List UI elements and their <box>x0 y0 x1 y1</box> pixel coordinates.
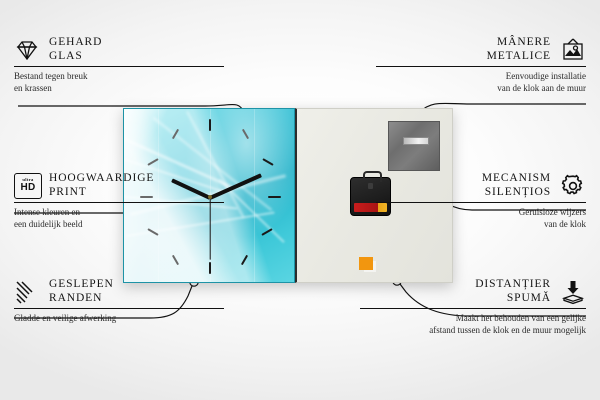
feature-title-line1: MECANISM <box>482 172 551 186</box>
feature-desc-line2: en krassen <box>14 83 224 95</box>
feature-header: DISTANȚIER SPUMĂ <box>360 278 586 305</box>
ultra-hd-icon: ultra HD <box>14 173 40 199</box>
feature-desc-line2: afstand tussen de klok en de muur mogeli… <box>360 325 586 337</box>
feature-title: MECANISM SILENȚIOS <box>482 172 551 199</box>
feature-description: Intense kleuren en een duidelijk beeld <box>14 207 224 230</box>
movement-shaft <box>368 183 373 189</box>
feature-desc-line1: Geruisloze wijzers <box>376 207 586 219</box>
clock-tick-5 <box>241 255 248 266</box>
feature-header: GESLEPEN RANDEN <box>14 278 224 305</box>
ultra-hd-large-text: HD <box>20 183 35 193</box>
feature-title-line1: MÂNERE <box>487 36 551 50</box>
feature-header: ultra HD HOOGWAARDIGE PRINT <box>14 172 224 199</box>
feature-rule <box>14 66 224 67</box>
feature-header: MÂNERE METALICE <box>376 36 586 63</box>
product-infographic: GEHARD GLAS Bestand tegen breuk en krass… <box>0 0 600 400</box>
feature-rule <box>14 202 224 203</box>
feature-title: DISTANȚIER SPUMĂ <box>475 278 551 305</box>
feature-description: Maakt het behouden van een gelijke afsta… <box>360 313 586 336</box>
picture-frame-icon <box>560 37 586 63</box>
diamond-icon <box>14 37 40 63</box>
feature-description: Geruisloze wijzers van de klok <box>376 207 586 230</box>
feature-rule <box>376 66 586 67</box>
clock-tick-12 <box>209 119 211 131</box>
clock-tick-1 <box>242 129 249 140</box>
spacer-press-icon <box>560 279 586 305</box>
feature-desc-line2: van de klok <box>376 219 586 231</box>
feature-desc-line1: Eenvoudige installatie <box>376 71 586 83</box>
feature-title-line2: RANDEN <box>49 292 114 306</box>
feature-mecanism-silentios: MECANISM SILENȚIOS Geruisloze wijzers va… <box>376 172 586 230</box>
metal-hanger-plate <box>388 121 440 171</box>
feature-description: Bestand tegen breuk en krassen <box>14 71 224 94</box>
feature-desc-line1: Gladde en veilige afwerking <box>14 313 224 325</box>
feature-desc-line1: Bestand tegen breuk <box>14 71 224 83</box>
feature-header: MECANISM SILENȚIOS <box>376 172 586 199</box>
feature-desc-line2: een duidelijk beeld <box>14 219 224 231</box>
feature-title-line1: GESLEPEN <box>49 278 114 292</box>
feature-title-line2: METALICE <box>487 50 551 64</box>
feature-title: GEHARD GLAS <box>49 36 102 63</box>
feature-title-line1: HOOGWAARDIGE <box>49 172 154 186</box>
beveled-edges-icon <box>14 279 40 305</box>
clock-tick-7 <box>172 255 179 266</box>
feature-gehard-glas: GEHARD GLAS Bestand tegen breuk en krass… <box>14 36 224 94</box>
feature-title-line1: DISTANȚIER <box>475 278 551 292</box>
feature-title-line2: PRINT <box>49 186 154 200</box>
clock-tick-4 <box>261 228 272 236</box>
clock-tick-10 <box>147 158 158 166</box>
feature-manere-metalice: MÂNERE METALICE Eenvoudige installatie v… <box>376 36 586 94</box>
feature-hoogwaardige-print: ultra HD HOOGWAARDIGE PRINT Intense kleu… <box>14 172 224 230</box>
clock-tick-3 <box>268 196 281 198</box>
feature-desc-line1: Intense kleuren en <box>14 207 224 219</box>
feature-header: GEHARD GLAS <box>14 36 224 63</box>
feature-title-line2: SILENȚIOS <box>482 186 551 200</box>
feature-title: HOOGWAARDIGE PRINT <box>49 172 154 199</box>
feature-title-line1: GEHARD <box>49 36 102 50</box>
gear-icon <box>560 173 586 199</box>
feature-rule <box>376 202 586 203</box>
feature-desc-line2: van de klok aan de muur <box>376 83 586 95</box>
hanger-slot <box>403 137 429 145</box>
clock-tick-2 <box>262 158 273 166</box>
feature-desc-line1: Maakt het behouden van een gelijke <box>360 313 586 325</box>
feature-geslepen-randen: GESLEPEN RANDEN Gladde en veilige afwerk… <box>14 278 224 325</box>
feature-distantier-spuma: DISTANȚIER SPUMĂ Maakt het behouden van … <box>360 278 586 336</box>
panel-seam <box>254 109 255 282</box>
feature-title: GESLEPEN RANDEN <box>49 278 114 305</box>
feature-title-line2: GLAS <box>49 50 102 64</box>
clock-tick-6 <box>209 262 211 274</box>
feature-rule <box>360 308 586 309</box>
foam-spacer <box>359 257 373 270</box>
feature-rule <box>14 308 224 309</box>
feature-description: Gladde en veilige afwerking <box>14 313 224 325</box>
feature-description: Eenvoudige installatie van de klok aan d… <box>376 71 586 94</box>
feature-title-line2: SPUMĂ <box>475 292 551 306</box>
feature-title: MÂNERE METALICE <box>487 36 551 63</box>
